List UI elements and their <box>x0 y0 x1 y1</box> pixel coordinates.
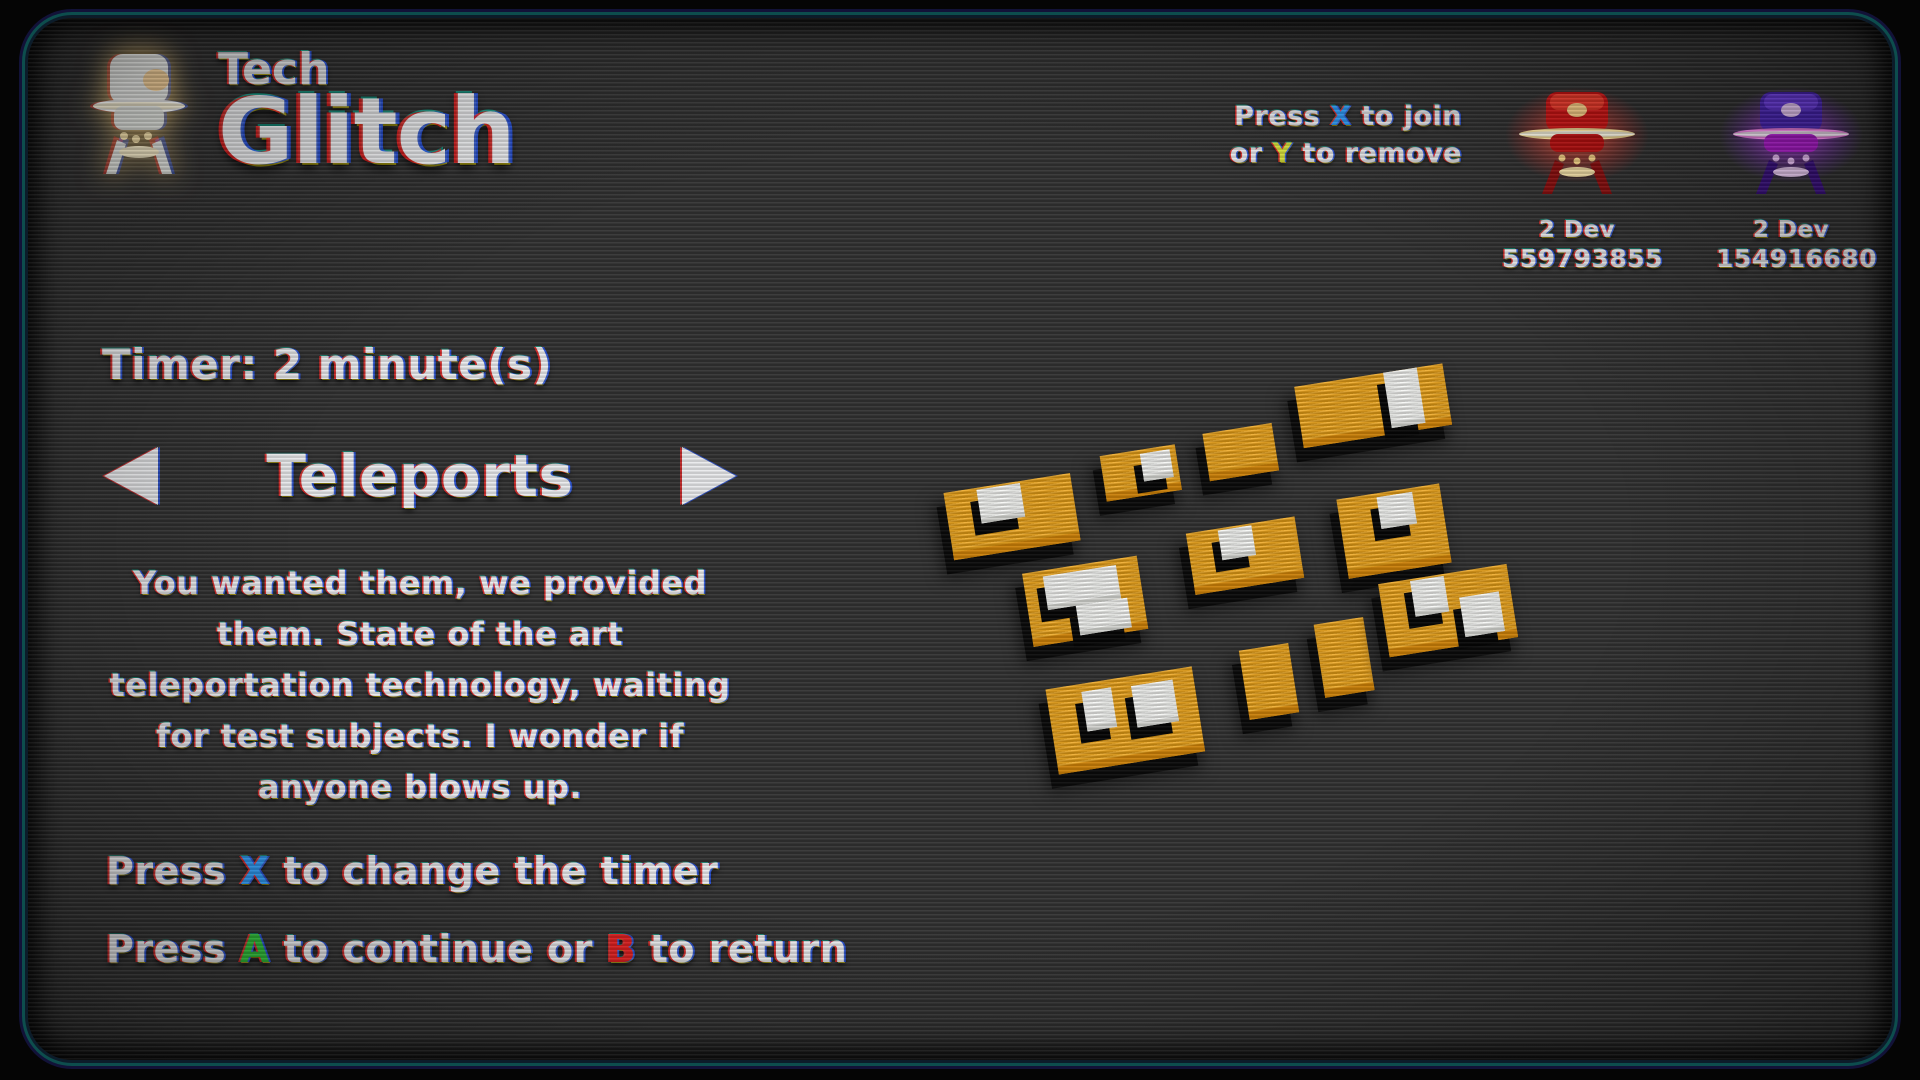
teleporter-block <box>1459 591 1505 637</box>
teleports-level-preview <box>955 371 1661 935</box>
player-slot[interactable]: 2 Dev 154916680 <box>1716 80 1866 274</box>
button-x-glyph: X <box>240 849 270 893</box>
teleporter-block <box>1218 525 1256 560</box>
join-hint-line-1-pre: Press <box>1234 101 1330 132</box>
chevron-right-icon[interactable] <box>678 443 740 509</box>
button-y-glyph: Y <box>1272 138 1292 169</box>
prompt-change-timer-post: to change the timer <box>270 849 719 893</box>
platform-tile <box>1314 617 1375 698</box>
game-logo-text: Tech Glitch <box>218 40 515 178</box>
ufo-robot-icon <box>1502 80 1652 200</box>
join-hint-line-2-pre: or <box>1230 138 1273 169</box>
player-id: 154916680 <box>1716 244 1866 274</box>
ufo-robot-icon <box>1716 80 1866 200</box>
teleporter-block <box>1376 492 1417 529</box>
platform-tile <box>1294 363 1452 448</box>
teleporter-block <box>1140 449 1174 481</box>
teleporter-block <box>976 483 1025 523</box>
game-header: Tech Glitch <box>84 40 515 180</box>
timer-label: Timer: 2 minute(s) <box>102 340 552 390</box>
mode-selector: Teleports <box>100 443 740 509</box>
prompt-change-timer: Press X to change the timer <box>106 832 847 910</box>
prompt-continue-return: Press A to continue or B to return <box>106 910 847 988</box>
footer-prompts: Press X to change the timer Press A to c… <box>106 832 847 988</box>
join-hint-line-2-post: to remove <box>1293 138 1462 169</box>
prompt-continue-post: to return <box>636 927 847 971</box>
mode-name: Teleports <box>162 443 678 509</box>
join-hint-line-1: Press X to join <box>1230 98 1462 135</box>
player-name: 2 Dev <box>1716 216 1866 244</box>
player-id: 559793855 <box>1502 244 1652 274</box>
crt-frame: Tech Glitch Press X to join or Y to remo… <box>28 18 1892 1060</box>
chevron-left-icon[interactable] <box>100 443 162 509</box>
teleporter-block <box>1081 687 1117 731</box>
prompt-continue-pre: Press <box>106 927 240 971</box>
button-b-glyph: B <box>607 927 636 971</box>
teleporter-block <box>1410 576 1449 617</box>
ufo-robot-icon <box>84 40 196 180</box>
teleporter-block <box>1131 680 1179 728</box>
join-hint-line-2: or Y to remove <box>1230 135 1462 172</box>
button-a-glyph: A <box>240 927 270 971</box>
logo-glitch: Glitch <box>218 86 515 178</box>
platform-tile <box>1202 423 1279 481</box>
join-hint: Press X to join or Y to remove <box>1230 98 1462 172</box>
player-name: 2 Dev <box>1502 216 1652 244</box>
player-list: 2 Dev 559793855 <box>1502 80 1866 274</box>
platform-tile <box>1239 643 1299 720</box>
prompt-continue-mid: to continue or <box>270 927 607 971</box>
join-hint-line-1-post: to join <box>1351 101 1462 132</box>
mode-description: You wanted them, we provided them. State… <box>100 558 740 813</box>
button-x-glyph: X <box>1330 101 1351 132</box>
player-slot[interactable]: 2 Dev 559793855 <box>1502 80 1652 274</box>
prompt-change-timer-pre: Press <box>106 849 240 893</box>
platform-tile <box>1045 666 1205 774</box>
game-screen: Tech Glitch Press X to join or Y to remo… <box>0 0 1920 1080</box>
